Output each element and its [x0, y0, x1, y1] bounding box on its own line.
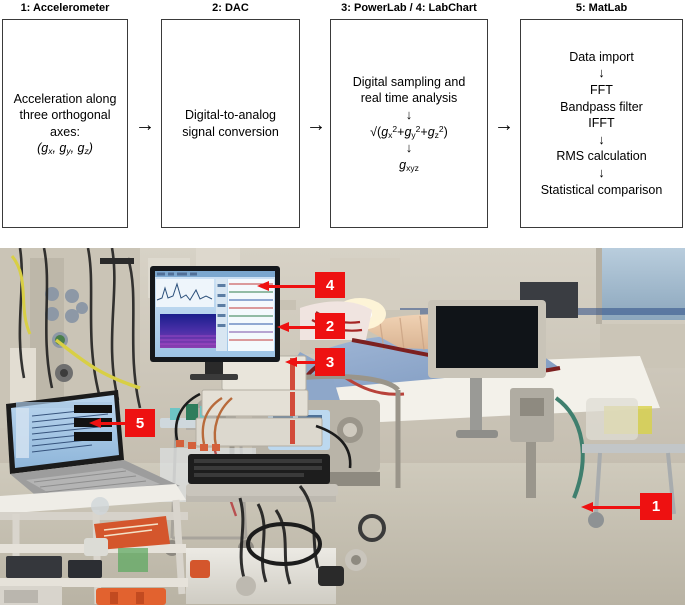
stage-body-powerlab-labchart: Digital sampling and real time analysis … — [331, 74, 487, 174]
plab-line-2: real time analysis — [336, 90, 482, 107]
annotation-label-3: 3 — [315, 348, 345, 376]
stage-box-accelerometer: Acceleration along three orthogonal axes… — [2, 19, 128, 228]
down-arrow-icon-ml-3: ↓ — [526, 166, 677, 181]
accel-line-2: three orthogonal — [8, 107, 122, 124]
down-arrow-icon-plab-2: ↓ — [336, 141, 482, 156]
stage-title-powerlab-labchart: 3: PowerLab / 4: LabChart — [330, 0, 488, 16]
dac-line-2: signal conversion — [167, 124, 294, 141]
matlab-step-bandpass: Bandpass filter — [526, 99, 677, 116]
matlab-step-fft: FFT — [526, 82, 677, 99]
annotation-label-5: 5 — [125, 409, 155, 437]
stage-box-powerlab-labchart: Digital sampling and real time analysis … — [330, 19, 488, 228]
stage-body-matlab: Data import ↓ FFT Bandpass filter IFFT ↓… — [521, 49, 682, 199]
dac-line-1: Digital-to-analog — [167, 107, 294, 124]
stage-body-dac: Digital-to-analog signal conversion — [162, 107, 299, 140]
stage-title-accelerometer: 1: Accelerometer — [2, 0, 128, 16]
annotation-label-1: 1 — [640, 493, 672, 520]
annotation-arrow-5 — [100, 422, 128, 425]
annotation-arrow-2 — [288, 326, 318, 329]
photo-scene — [0, 248, 685, 605]
stage-body-accelerometer: Acceleration along three orthogonal axes… — [3, 91, 127, 157]
matlab-step-data-import: Data import — [526, 49, 677, 66]
stage-box-dac: Digital-to-analog signal conversion — [161, 19, 300, 228]
plab-result-formula: gxyz — [336, 157, 482, 174]
flow-arrow-2-to-3: → — [303, 112, 329, 138]
stage-title-dac: 2: DAC — [161, 0, 300, 16]
flow-arrow-1-to-2: → — [132, 112, 158, 138]
stage-box-matlab: Data import ↓ FFT Bandpass filter IFFT ↓… — [520, 19, 683, 228]
accel-axes-formula: (gx, gy, gz) — [8, 140, 122, 157]
annotation-arrow-1 — [592, 506, 642, 509]
down-arrow-icon-ml-1: ↓ — [526, 66, 677, 81]
matlab-step-stats: Statistical comparison — [526, 182, 677, 199]
annotation-arrow-4 — [268, 285, 318, 288]
down-arrow-icon-plab-1: ↓ — [336, 108, 482, 123]
accel-line-1: Acceleration along — [8, 91, 122, 108]
operating-room-photo: 4 2 3 5 1 — [0, 248, 685, 605]
flowchart-panel: 1: Accelerometer Acceleration along thre… — [0, 0, 685, 240]
annotation-label-4: 4 — [315, 272, 345, 298]
plab-sqrt-formula: √(gx2+gy2+gz2) — [336, 124, 482, 141]
down-arrow-icon-ml-2: ↓ — [526, 133, 677, 148]
flow-arrow-3-to-4: → — [491, 112, 517, 138]
annotation-label-2: 2 — [315, 313, 345, 339]
matlab-step-ifft: IFFT — [526, 115, 677, 132]
plab-line-1: Digital sampling and — [336, 74, 482, 91]
matlab-step-rms: RMS calculation — [526, 148, 677, 165]
stage-title-matlab: 5: MatLab — [520, 0, 683, 16]
accel-line-3: axes: — [8, 124, 122, 141]
